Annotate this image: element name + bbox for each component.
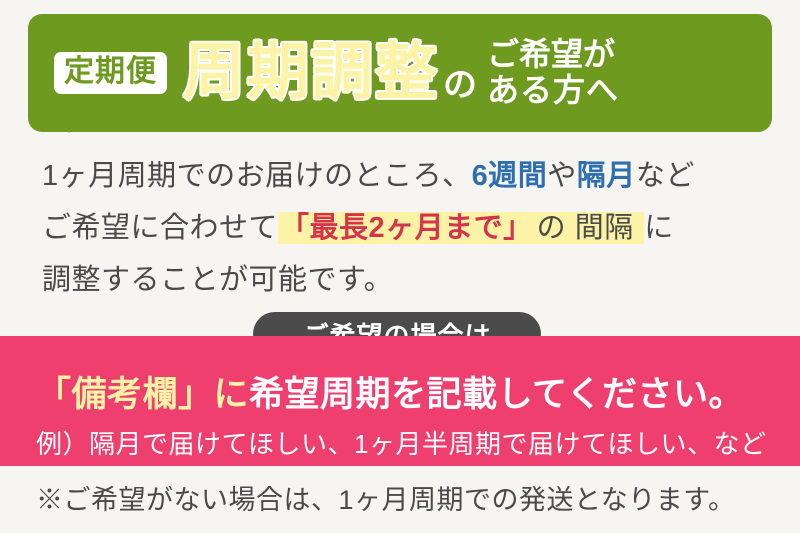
description-line-1-part-3: や [547,160,577,192]
description-line-3: 調整することが可能です。 [42,254,772,306]
quote-close: 」に [178,375,249,414]
highlight-interval: の 間隔 [535,212,645,244]
header-banner: 定期便 周期調整 の ご希望が ある方へ [28,14,772,132]
description-line-1-part-1: 1ヶ月周期でのお届けのところ、 [42,160,472,192]
description-line-2-part-1: ご希望に合わせて [42,212,278,244]
description-line-1: 1ヶ月周期でのお届けのところ、6週間や隔月など [42,150,772,202]
quote-open: 「 [36,375,72,414]
promo-graphic: 定期便 周期調整 の ご希望が ある方へ 1ヶ月周期でのお届けのところ、6週間や… [0,0,800,533]
highlight-every-other-month: 隔月 [577,160,636,192]
banner-title: 周期調整 [183,42,439,104]
banner-pointer-triangle [58,116,80,133]
highlight-desired-cycle: 希望周期 [249,375,391,414]
pink-callout-main-line: 「備考欄」に希望周期を記載してください。 [36,366,796,417]
highlight-max-two-months: 「最長2ヶ月まで」 [278,212,535,244]
banner-subtitle-line-2: ある方へ [487,73,619,109]
description-line-2-part-4: に [644,212,674,244]
pink-callout-main-tail: を記載してください。 [391,375,744,414]
highlight-remarks-field: 備考欄 [72,375,179,414]
description-paragraph: 1ヶ月周期でのお届けのところ、6週間や隔月など ご希望に合わせて「最長2ヶ月まで… [42,150,772,306]
highlight-six-weeks: 6週間 [472,160,548,192]
banner-subtitle: ご希望が ある方へ [487,37,619,109]
pink-callout-example-line: 例）隔月で届けてほしい、1ヶ月半周期で届けてほしい、など [36,424,796,461]
header-banner-body: 定期便 周期調整 の ご希望が ある方へ [28,14,772,132]
description-line-2: ご希望に合わせて「最長2ヶ月まで」の 間隔 に [42,202,772,254]
banner-title-particle: の [443,57,477,106]
banner-subtitle-line-1: ご希望が [487,37,619,73]
footer-note: ※ご希望がない場合は、1ヶ月周期での発送となります。 [36,478,796,517]
subscription-badge: 定期便 [54,52,167,94]
description-line-1-part-5: など [636,160,695,192]
